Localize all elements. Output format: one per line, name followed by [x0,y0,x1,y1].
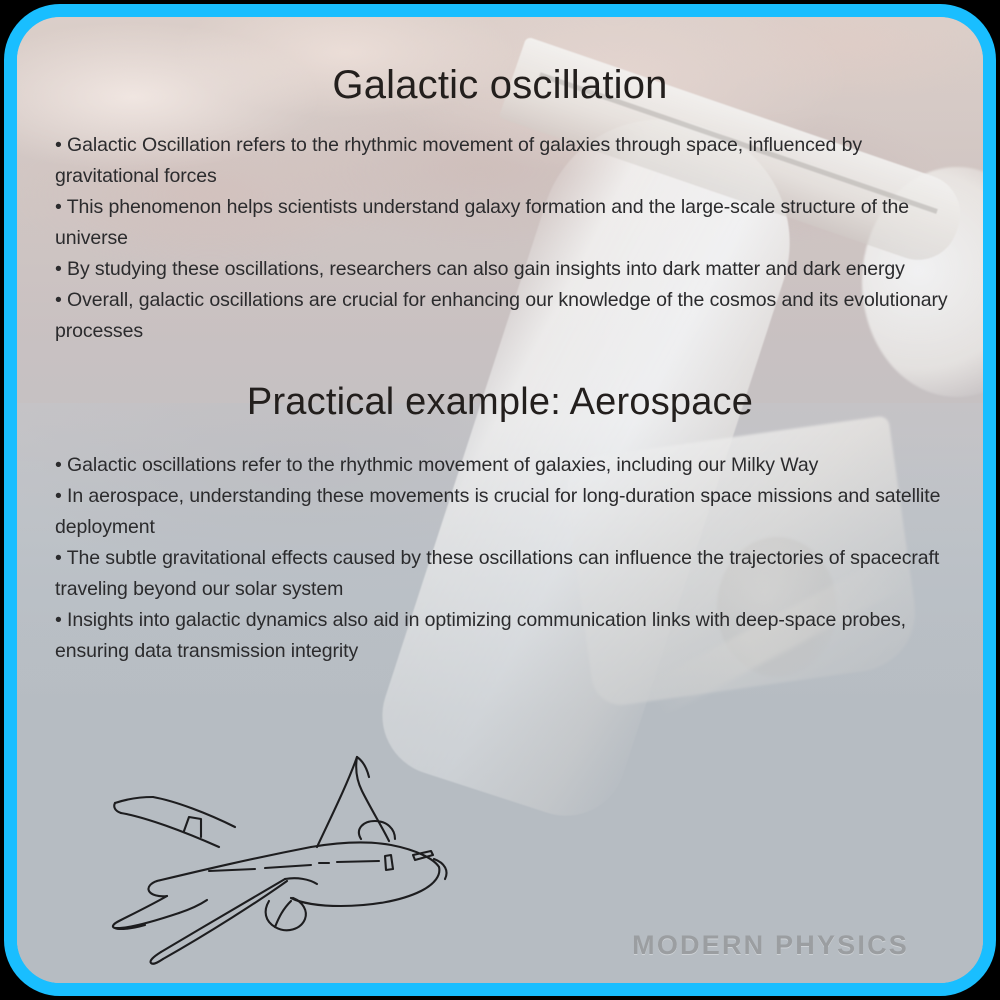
watermark: MODERN PHYSICS [632,930,909,961]
list-item: • Insights into galactic dynamics also a… [55,605,957,667]
page-title: Galactic oscillation [43,63,957,108]
section-title: Practical example: Aerospace [43,381,957,424]
list-item: • Overall, galactic oscillations are cru… [55,285,957,347]
list-item: • In aerospace, understanding these move… [55,481,957,543]
slide-root: Galactic oscillation • Galactic Oscillat… [0,0,1000,1000]
intro-bullet-list: • Galactic Oscillation refers to the rhy… [43,130,957,347]
slide-frame: Galactic oscillation • Galactic Oscillat… [4,4,996,996]
airplane-sketch-icon [79,721,479,971]
example-bullet-list: • Galactic oscillations refer to the rhy… [43,450,957,667]
list-item: • Galactic Oscillation refers to the rhy… [55,130,957,192]
list-item: • The subtle gravitational effects cause… [55,543,957,605]
list-item: • Galactic oscillations refer to the rhy… [55,450,957,481]
list-item: • By studying these oscillations, resear… [55,254,957,285]
list-item: • This phenomenon helps scientists under… [55,192,957,254]
